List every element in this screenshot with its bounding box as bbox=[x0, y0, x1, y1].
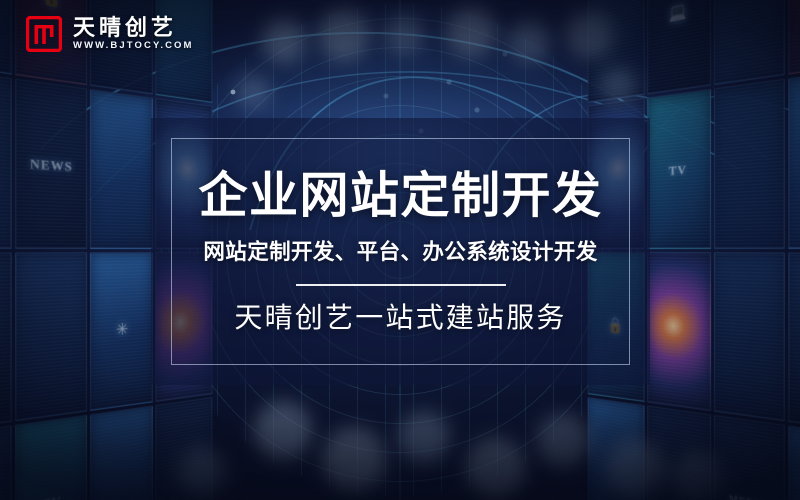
promo-banner: 🔒NEWS↑✳TV 💻TV🔒MEDIA 天晴创艺 WWW.BJTOCY.COM … bbox=[0, 0, 800, 500]
tocy-monogram-icon bbox=[26, 16, 62, 52]
headline-title: 企业网站定制开发 bbox=[198, 171, 602, 220]
divider-rule bbox=[296, 284, 506, 286]
logo-website-url: WWW.BJTOCY.COM bbox=[73, 41, 194, 51]
hero-panel: 企业网站定制开发 网站定制开发、平台、办公系统设计开发 天晴创艺一站式建站服务 bbox=[151, 118, 650, 385]
brand-logo[interactable]: 天晴创艺 WWW.BJTOCY.COM bbox=[26, 16, 194, 52]
tagline-text: 天晴创艺一站式建站服务 bbox=[234, 304, 566, 332]
subheadline-text: 网站定制开发、平台、办公系统设计开发 bbox=[203, 242, 597, 264]
logo-company-name: 天晴创艺 bbox=[73, 17, 194, 39]
panel-content: 企业网站定制开发 网站定制开发、平台、办公系统设计开发 天晴创艺一站式建站服务 bbox=[151, 118, 650, 385]
logo-wordmark: 天晴创艺 WWW.BJTOCY.COM bbox=[73, 17, 194, 51]
